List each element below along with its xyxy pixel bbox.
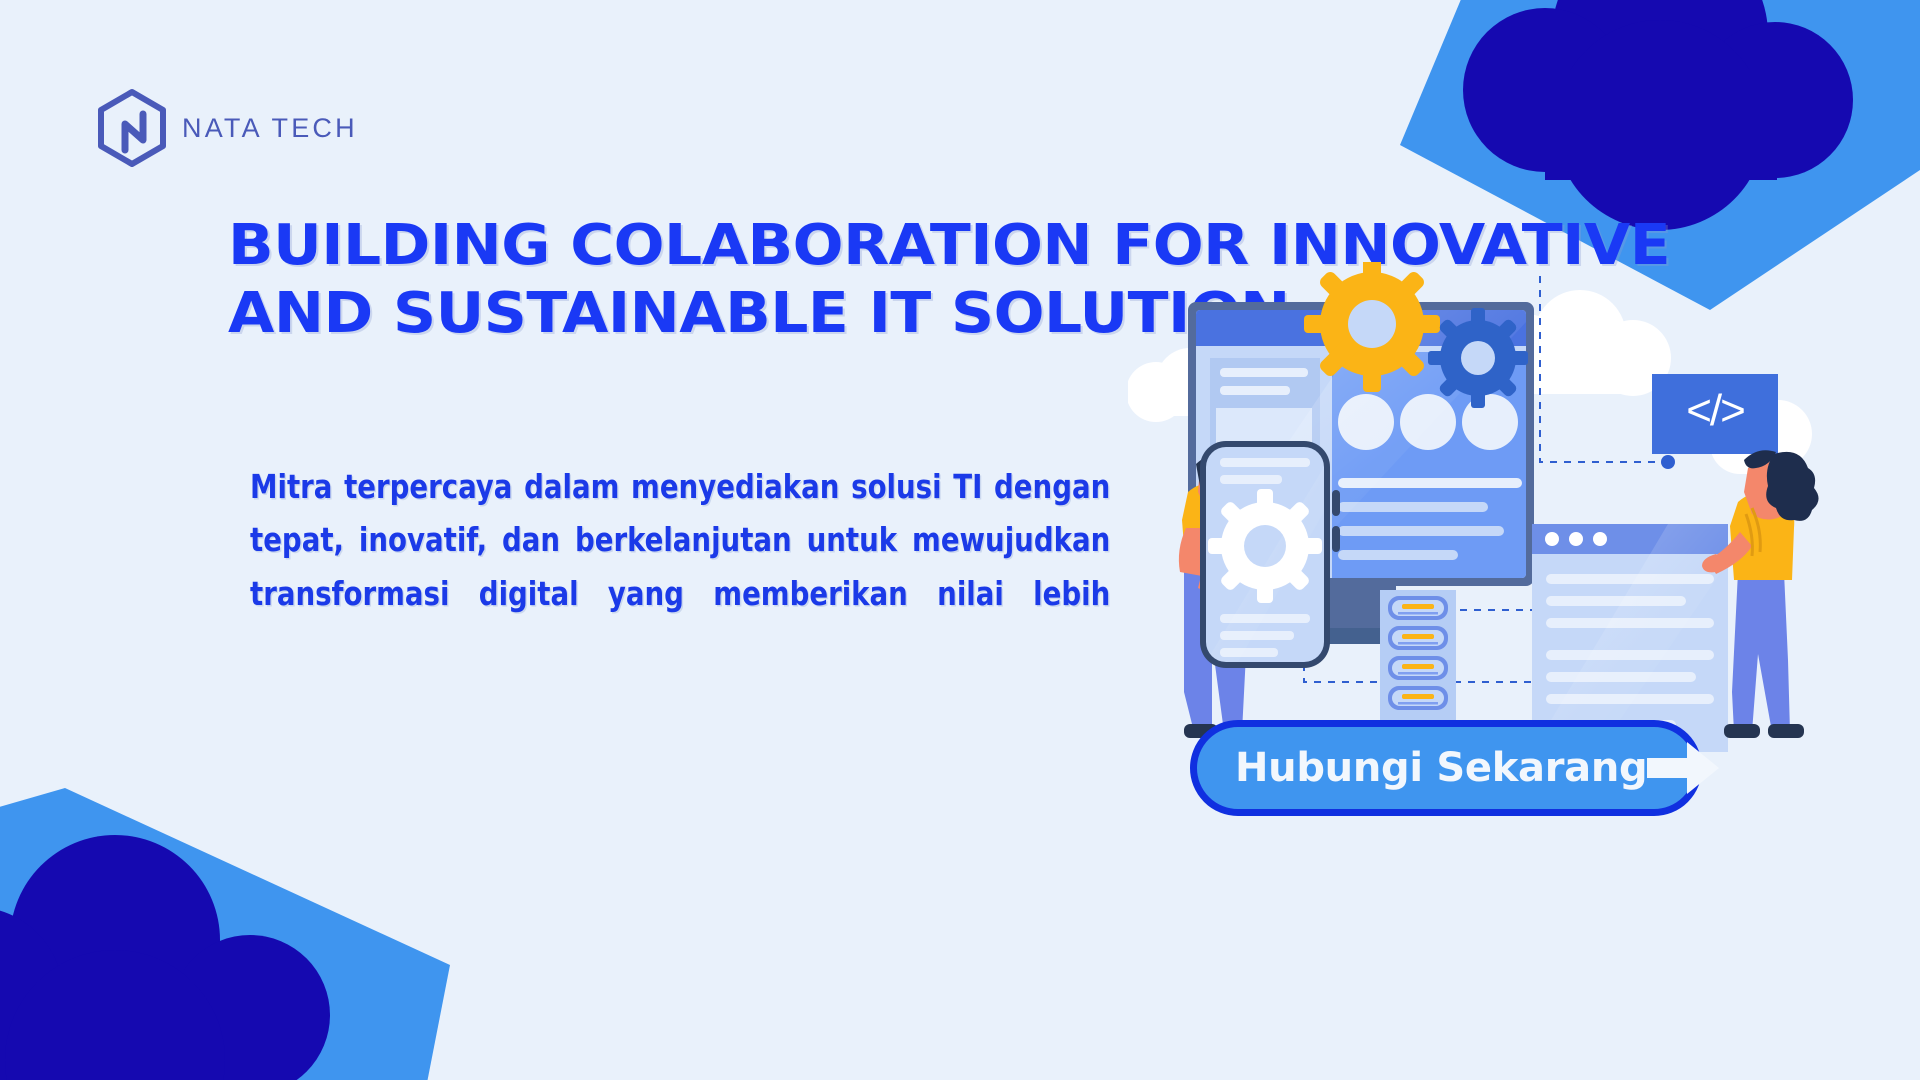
cloud-icon: [0, 835, 330, 1080]
poster-canvas: NATA TECH BUILDING COLABORATION FOR INNO…: [0, 0, 1920, 1080]
blue-gear-icon: [1428, 308, 1528, 408]
it-collaboration-illustration: </>: [1128, 262, 1868, 762]
logo[interactable]: NATA TECH: [96, 88, 358, 168]
cta-label: Hubungi Sekarang: [1235, 745, 1647, 791]
hexagon-n-monogram-icon: [96, 88, 168, 168]
yellow-gear-icon: [1304, 262, 1440, 392]
decoration-bottom-left: [0, 770, 470, 1080]
code-window: </>: [1652, 374, 1778, 454]
logo-wordmark: NATA TECH: [182, 113, 358, 144]
code-glyph: </>: [1686, 386, 1744, 435]
arrow-right-icon: [1647, 740, 1719, 796]
lead-paragraph: Mitra terpercaya dalam menyediakan solus…: [250, 460, 1110, 674]
browser-window: [1532, 524, 1728, 752]
contact-now-button[interactable]: Hubungi Sekarang: [1190, 720, 1702, 816]
smartphone-with-gear: [1200, 441, 1340, 668]
server-rack: [1380, 590, 1456, 722]
